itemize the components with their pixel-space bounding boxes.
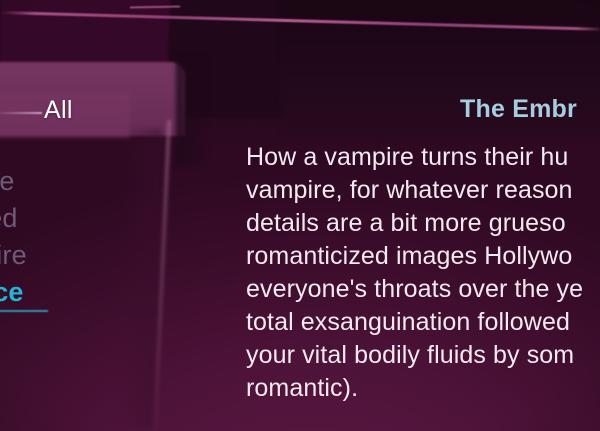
sidebar-item-embrace[interactable]: ace <box>0 279 24 306</box>
article-line: everyone's throats over the ye <box>246 273 600 306</box>
sidebar-active-underline <box>0 310 48 312</box>
article-line: romanticized images Hollywo <box>246 240 600 273</box>
sidebar-item-sire[interactable]: Sire <box>0 242 27 269</box>
sidebar-item-elder[interactable]: lde <box>0 168 15 195</box>
tab-all[interactable]: All <box>44 96 73 125</box>
article-body: How a vampire turns their hu vampire, fo… <box>246 141 600 405</box>
page-title: The Embr <box>460 95 577 124</box>
article-line: vampire, for whatever reason <box>246 174 600 207</box>
article-line: details are a bit more grueso <box>246 207 600 240</box>
main-content: The Embr How a vampire turns their hu va… <box>246 0 600 431</box>
article-line: total exsanguination followed <box>246 306 600 339</box>
page-root: All lde red Sire ace The Embr How a vamp… <box>0 0 600 431</box>
article-line: your vital bodily fluids by som <box>246 339 600 372</box>
background-block-left <box>0 0 176 68</box>
sidebar-item-sired[interactable]: red <box>0 205 18 232</box>
article-line: romantic). <box>246 372 600 405</box>
tab-rule-divider <box>0 112 42 114</box>
background-streak-dark <box>176 56 206 166</box>
article-line: How a vampire turns their hu <box>246 141 600 174</box>
